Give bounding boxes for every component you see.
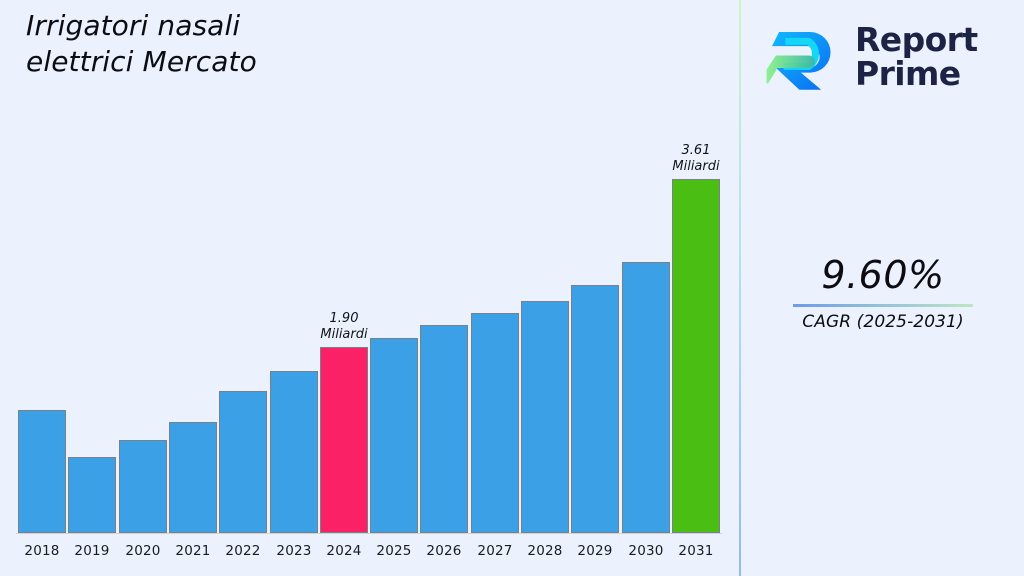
bar-rect-2023[interactable] (270, 371, 318, 533)
bar-2029[interactable] (571, 285, 619, 533)
bar-value-label-2031: 3.61 Miliardi (651, 143, 741, 175)
x-tick-2022: 2022 (219, 543, 267, 559)
bar-rect-2030[interactable] (622, 262, 670, 533)
x-tick-2021: 2021 (169, 543, 217, 559)
bar-rect-2018[interactable] (18, 410, 66, 533)
bar-chart-plot: 2018201920202021202220231.90 Miliardi202… (0, 0, 740, 576)
x-tick-2024: 2024 (320, 543, 368, 559)
x-tick-2020: 2020 (119, 543, 167, 559)
x-tick-2030: 2030 (622, 543, 670, 559)
bar-rect-2029[interactable] (571, 285, 619, 533)
bar-2019[interactable] (68, 457, 116, 533)
bar-2021[interactable] (169, 422, 217, 533)
cagr-divider (793, 304, 973, 307)
cagr-block: 9.60% CAGR (2025-2031) (761, 252, 1005, 333)
bar-2027[interactable] (471, 313, 519, 533)
bar-2028[interactable] (521, 301, 569, 533)
brand-logo: Report Prime (765, 14, 1015, 100)
bar-2020[interactable] (119, 440, 167, 533)
brand-name: Report Prime (855, 23, 978, 91)
bar-rect-2026[interactable] (420, 325, 468, 533)
bar-rect-2031[interactable] (672, 179, 720, 533)
bar-2030[interactable] (622, 262, 670, 533)
x-tick-2027: 2027 (471, 543, 519, 559)
x-tick-2023: 2023 (270, 543, 318, 559)
branding-panel: Report Prime 9.60% CAGR (2025-2031) (741, 0, 1024, 576)
x-tick-2019: 2019 (68, 543, 116, 559)
bar-2031[interactable]: 3.61 Miliardi (672, 179, 720, 533)
bar-rect-2027[interactable] (471, 313, 519, 533)
x-axis-line (16, 533, 722, 534)
x-tick-2029: 2029 (571, 543, 619, 559)
bar-rect-2028[interactable] (521, 301, 569, 533)
x-tick-2018: 2018 (18, 543, 66, 559)
bar-2022[interactable] (219, 391, 267, 533)
bar-2024[interactable]: 1.90 Miliardi (320, 347, 368, 533)
cagr-caption: CAGR (2025-2031) (761, 311, 1005, 333)
x-tick-2028: 2028 (521, 543, 569, 559)
bar-rect-2020[interactable] (119, 440, 167, 533)
x-tick-2026: 2026 (420, 543, 468, 559)
bar-rect-2025[interactable] (370, 338, 418, 533)
chart-panel: Irrigatori nasali elettrici Mercato 2018… (0, 0, 740, 576)
report-slide: Irrigatori nasali elettrici Mercato 2018… (0, 0, 1024, 576)
bar-2023[interactable] (270, 371, 318, 533)
bar-2026[interactable] (420, 325, 468, 533)
bar-rect-2024[interactable] (320, 347, 368, 533)
bar-rect-2022[interactable] (219, 391, 267, 533)
report-prime-logo-icon (765, 18, 843, 96)
x-tick-2025: 2025 (370, 543, 418, 559)
bar-2018[interactable] (18, 410, 66, 533)
cagr-value: 9.60% (761, 252, 1005, 298)
x-tick-2031: 2031 (672, 543, 720, 559)
bar-2025[interactable] (370, 338, 418, 533)
bar-rect-2021[interactable] (169, 422, 217, 533)
bar-rect-2019[interactable] (68, 457, 116, 533)
